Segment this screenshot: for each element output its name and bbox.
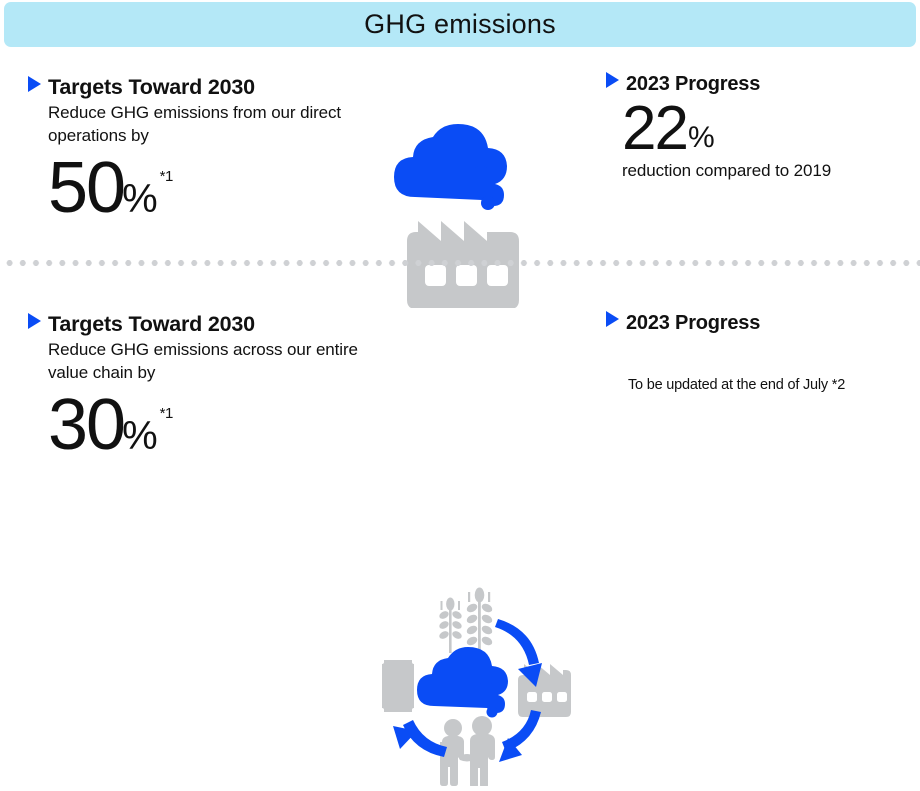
header-banner: GHG emissions bbox=[4, 2, 916, 47]
handshake-people bbox=[440, 716, 495, 786]
progress-note: To be updated at the end of July *2 bbox=[628, 377, 906, 393]
target-value-group: 30 % *1 bbox=[48, 392, 378, 458]
target-value: 50 bbox=[48, 155, 124, 221]
factory-windows bbox=[527, 692, 567, 702]
triangle-bullet-icon bbox=[28, 313, 41, 329]
progress-block-top: 2023 Progress 22 % reduction compared to… bbox=[606, 73, 906, 182]
triangle-bullet-icon bbox=[606, 72, 619, 88]
triangle-bullet-icon bbox=[28, 76, 41, 92]
target-heading: Targets Toward 2030 bbox=[48, 75, 255, 100]
target-footnote: *1 bbox=[160, 168, 173, 185]
emission-cloud bbox=[417, 647, 508, 713]
target-heading: Targets Toward 2030 bbox=[48, 312, 255, 337]
target-description: Reduce GHG emissions from our direct ope… bbox=[48, 102, 378, 147]
section-scope1-2: Targets Toward 2030 Reduce GHG emissions… bbox=[0, 55, 920, 255]
progress-heading: 2023 Progress bbox=[626, 312, 760, 335]
progress-heading-row-bottom: 2023 Progress bbox=[606, 312, 906, 335]
wheat-stalks bbox=[438, 588, 494, 654]
progress-value: 22 bbox=[622, 100, 687, 159]
progress-block-bottom: 2023 Progress To be updated at the end o… bbox=[606, 312, 906, 393]
emission-cloud bbox=[394, 124, 507, 206]
value-chain-cycle-icon bbox=[372, 586, 572, 791]
beverage-can bbox=[382, 660, 414, 712]
target-block-bottom: Targets Toward 2030 Reduce GHG emissions… bbox=[28, 312, 378, 458]
target-footnote: *1 bbox=[160, 405, 173, 422]
target-heading-row-top: Targets Toward 2030 bbox=[28, 75, 378, 100]
emission-bubble bbox=[481, 196, 495, 210]
page-title: GHG emissions bbox=[364, 9, 556, 40]
section-scope3: Targets Toward 2030 Reduce GHG emissions… bbox=[0, 290, 920, 495]
factory-windows bbox=[425, 265, 508, 286]
progress-heading: 2023 Progress bbox=[626, 73, 760, 96]
emission-bubble bbox=[487, 707, 498, 718]
progress-heading-row-top: 2023 Progress bbox=[606, 73, 906, 96]
target-value: 30 bbox=[48, 392, 124, 458]
target-block-top: Targets Toward 2030 Reduce GHG emissions… bbox=[28, 75, 378, 221]
target-unit: % bbox=[122, 416, 158, 456]
target-description: Reduce GHG emissions across our entire v… bbox=[48, 339, 378, 384]
triangle-bullet-icon bbox=[606, 311, 619, 327]
target-unit: % bbox=[122, 179, 158, 219]
section-divider bbox=[0, 260, 920, 266]
cloud-over-factory-icon bbox=[385, 113, 535, 313]
progress-value-group: 22 % bbox=[622, 100, 906, 159]
target-heading-row-bottom: Targets Toward 2030 bbox=[28, 312, 378, 337]
target-value-group: 50 % *1 bbox=[48, 155, 378, 221]
progress-unit: % bbox=[688, 121, 715, 155]
progress-description: reduction compared to 2019 bbox=[622, 160, 906, 182]
